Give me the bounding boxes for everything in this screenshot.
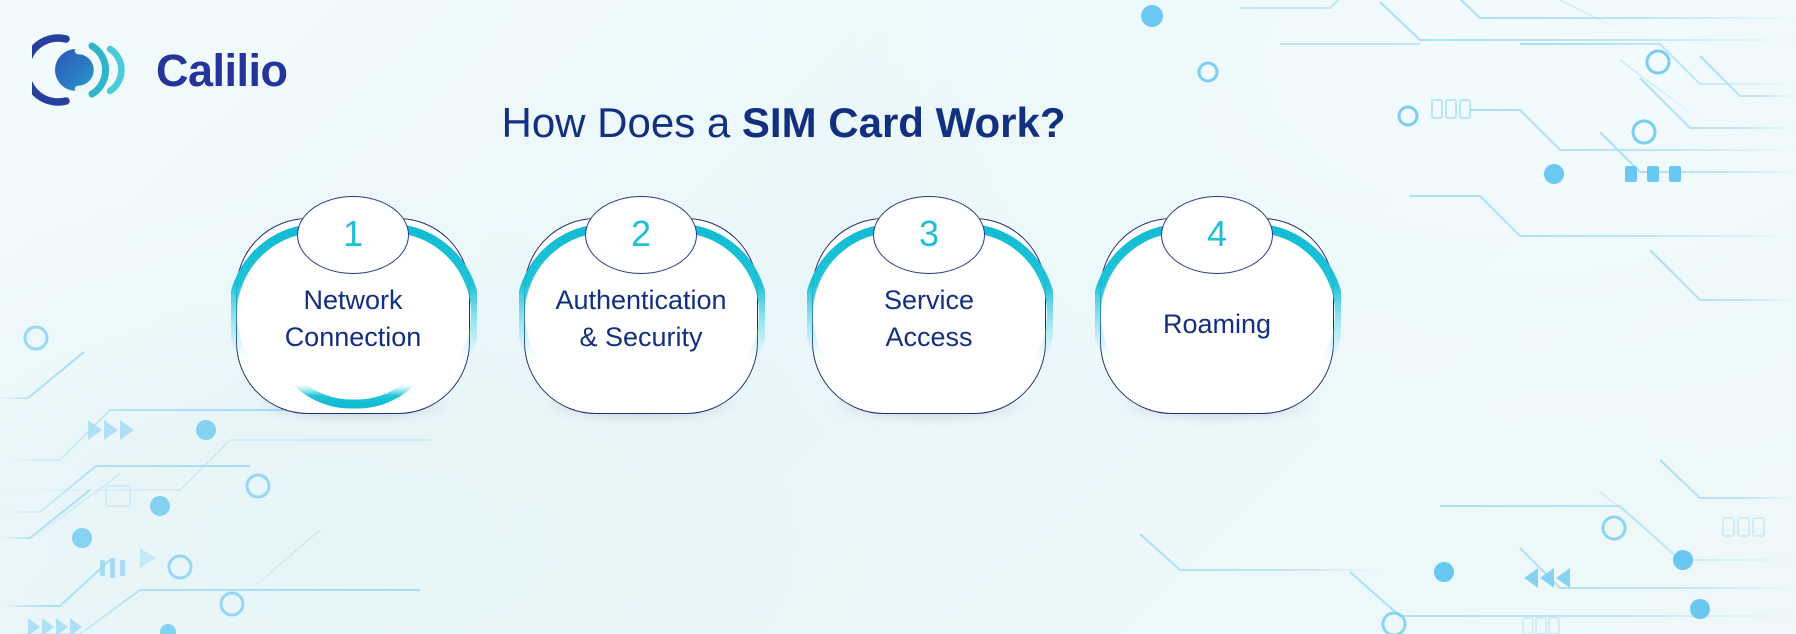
card-label-line2: & Security bbox=[524, 319, 758, 356]
card-label-line1: Network bbox=[236, 282, 470, 319]
infographic-canvas: Calilio How Does a SIM Card Work? Networ… bbox=[0, 0, 1796, 634]
steps-row: Network Connection 1 Authentication & Se… bbox=[236, 196, 1346, 446]
card-label-line2: Access bbox=[812, 319, 1046, 356]
card-label-line1: Roaming bbox=[1100, 306, 1334, 343]
card-label-line1: Service bbox=[812, 282, 1046, 319]
page-title: How Does a SIM Card Work? bbox=[0, 99, 1567, 147]
step-number-badge: 2 bbox=[585, 196, 697, 274]
card-label-line2: Connection bbox=[236, 319, 470, 356]
step-card-2[interactable]: Authentication & Security 2 bbox=[524, 196, 760, 446]
step-number-badge: 1 bbox=[297, 196, 409, 274]
step-number: 3 bbox=[919, 216, 939, 252]
card-label-line1: Authentication bbox=[524, 282, 758, 319]
brand-logo[interactable]: Calilio bbox=[32, 33, 288, 107]
card-label: Service Access bbox=[812, 282, 1046, 357]
step-card-1[interactable]: Network Connection 1 bbox=[236, 196, 472, 446]
step-number: 4 bbox=[1207, 216, 1227, 252]
step-number: 1 bbox=[343, 216, 363, 252]
step-number: 2 bbox=[631, 216, 651, 252]
title-lead: How Does a bbox=[501, 99, 741, 146]
calilio-signal-logo-icon bbox=[32, 33, 142, 107]
step-card-3[interactable]: Service Access 3 bbox=[812, 196, 1048, 446]
step-number-badge: 3 bbox=[873, 196, 985, 274]
card-label: Network Connection bbox=[236, 282, 470, 357]
step-card-4[interactable]: Roaming 4 bbox=[1100, 196, 1336, 446]
brand-name: Calilio bbox=[156, 48, 288, 93]
card-label: Roaming bbox=[1100, 306, 1334, 343]
card-label: Authentication & Security bbox=[524, 282, 758, 357]
title-emphasis: SIM Card Work? bbox=[742, 99, 1066, 146]
step-number-badge: 4 bbox=[1161, 196, 1273, 274]
